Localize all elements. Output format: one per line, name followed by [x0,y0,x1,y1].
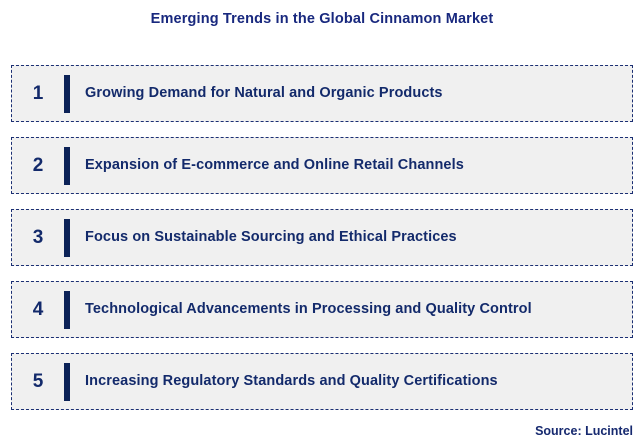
list-item[interactable]: 2 Expansion of E-commerce and Online Ret… [11,137,633,194]
trend-list: 1 Growing Demand for Natural and Organic… [11,65,633,410]
page-title: Emerging Trends in the Global Cinnamon M… [0,11,644,27]
emerging-trends-infographic: Emerging Trends in the Global Cinnamon M… [0,0,644,448]
trend-label: Increasing Regulatory Standards and Qual… [70,373,632,390]
trend-number: 5 [12,372,64,391]
trend-number: 3 [12,228,64,247]
trend-number: 2 [12,156,64,175]
list-item[interactable]: 5 Increasing Regulatory Standards and Qu… [11,353,633,410]
list-item[interactable]: 4 Technological Advancements in Processi… [11,281,633,338]
trend-label: Technological Advancements in Processing… [70,301,632,318]
source-attribution: Source: Lucintel [0,424,633,438]
trend-label: Focus on Sustainable Sourcing and Ethica… [70,229,632,246]
list-item[interactable]: 1 Growing Demand for Natural and Organic… [11,65,633,122]
list-item[interactable]: 3 Focus on Sustainable Sourcing and Ethi… [11,209,633,266]
trend-number: 4 [12,300,64,319]
trend-number: 1 [12,84,64,103]
trend-label: Growing Demand for Natural and Organic P… [70,85,632,102]
trend-label: Expansion of E-commerce and Online Retai… [70,157,632,174]
